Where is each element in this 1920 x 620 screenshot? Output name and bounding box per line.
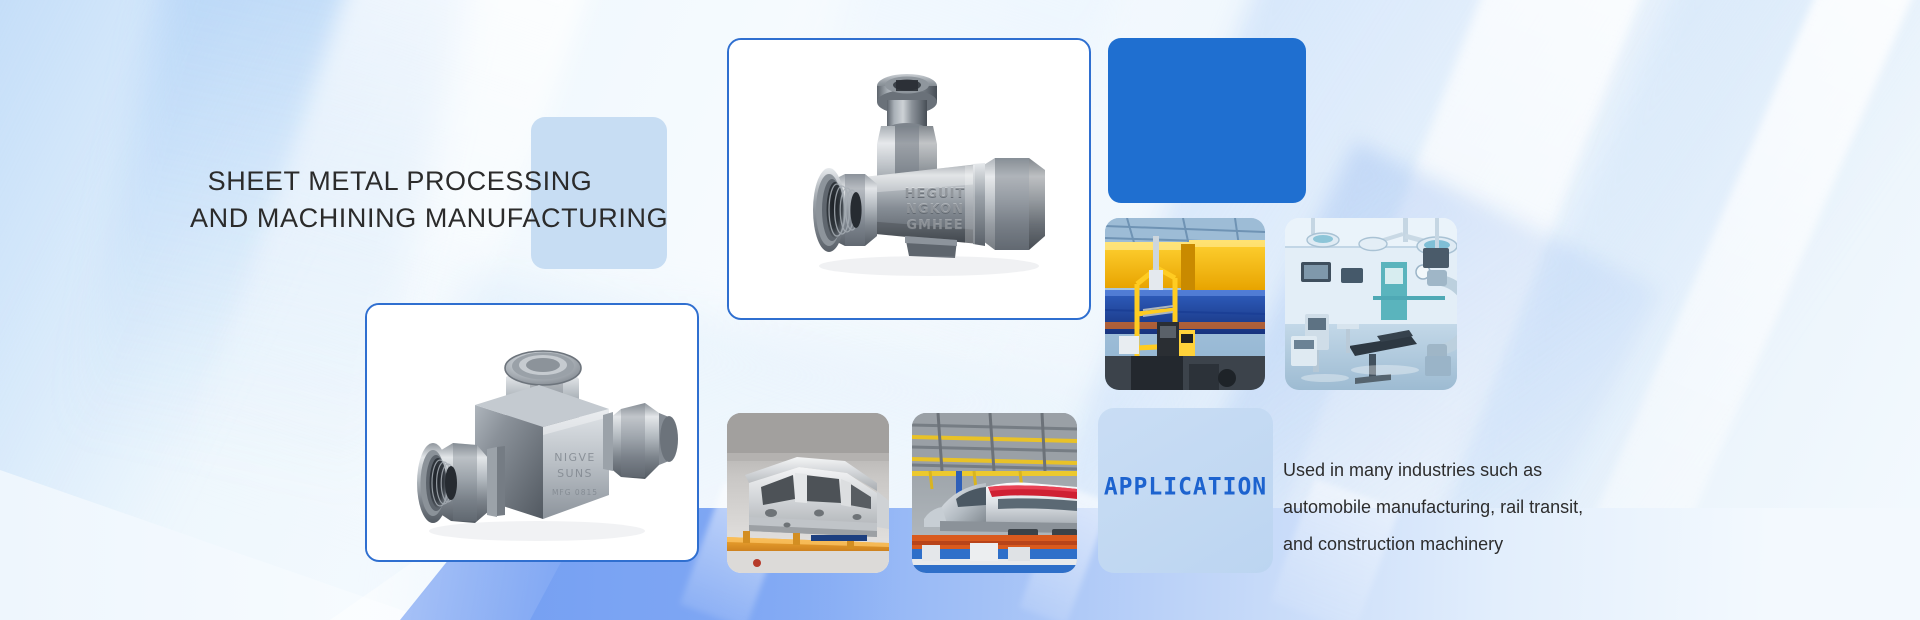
- headline-line-2: AND MACHINING MANUFACTURING: [190, 200, 610, 237]
- banner-root: SHEET METAL PROCESSING AND MACHINING MAN…: [0, 0, 1920, 620]
- application-description-line-3: and construction machinery: [1283, 526, 1673, 563]
- thumbnail-press-brake-machine[interactable]: [1105, 218, 1265, 390]
- high-speed-train-image: [912, 413, 1077, 573]
- svg-text:NIGVE: NIGVE: [554, 451, 595, 464]
- thumbnail-high-speed-train[interactable]: [912, 413, 1077, 573]
- product-card-tee-fitting[interactable]: NIGVE SUNS MFG 0815: [365, 303, 699, 562]
- headline-line-1: SHEET METAL PROCESSING: [190, 163, 610, 200]
- application-description-line-2: automobile manufacturing, rail transit,: [1283, 489, 1673, 526]
- car-body-line-image: [727, 413, 889, 573]
- svg-text:HEGUIT: HEGUIT: [905, 186, 966, 201]
- application-description: Used in many industries such as automobi…: [1283, 452, 1673, 563]
- product-card-ball-valve[interactable]: HEGUIT NGKON GMHEE HEGUIT NGKON GMHEE: [727, 38, 1091, 320]
- press-brake-machine-image: [1105, 218, 1265, 390]
- ball-valve-image: HEGUIT NGKON GMHEE HEGUIT NGKON GMHEE: [729, 40, 1085, 314]
- thumbnail-operating-room[interactable]: [1285, 218, 1457, 390]
- svg-text:SUNS: SUNS: [557, 467, 593, 480]
- tee-fitting-image: NIGVE SUNS MFG 0815: [367, 305, 693, 556]
- svg-text:MFG 0815: MFG 0815: [552, 488, 598, 497]
- svg-text:NGKON: NGKON: [906, 202, 964, 217]
- application-label: APPLICATION: [1098, 473, 1273, 500]
- svg-text:GMHEE: GMHEE: [906, 218, 963, 233]
- operating-room-image: [1285, 218, 1457, 390]
- thumbnail-car-body-line[interactable]: [727, 413, 889, 573]
- application-description-line-1: Used in many industries such as: [1283, 452, 1673, 489]
- accent-color-block: [1108, 38, 1306, 203]
- page-title: SHEET METAL PROCESSING AND MACHINING MAN…: [190, 163, 610, 238]
